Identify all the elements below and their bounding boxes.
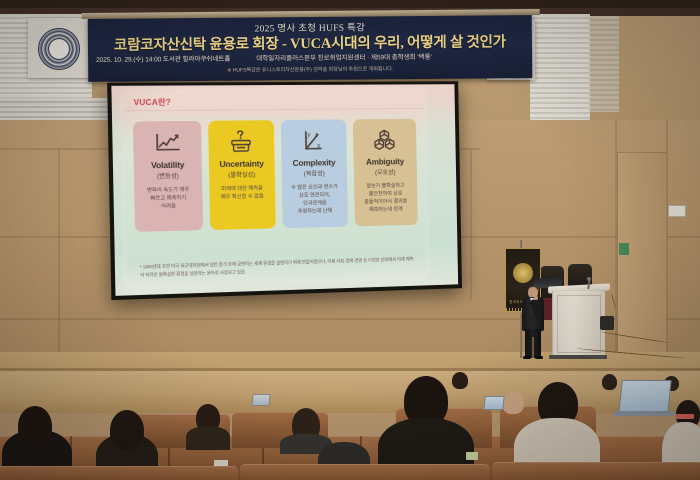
event-banner: 2025 명사 초청 HUFS 특강 코람코자산신탁 윤용로 회장 - VUCA… [88, 14, 533, 82]
svg-text:x: x [317, 142, 321, 150]
vuca-label-en: Complexity [293, 157, 336, 168]
stacked-cubes-icon [368, 127, 401, 153]
vuca-card-ambiguity: Ambiguity (모호성) 정보가 불확실하고 불안전하여 상호 충돌적이어… [352, 119, 417, 227]
speaker-shoe-right [535, 356, 543, 359]
slide-title-rule [123, 108, 423, 111]
window-blinds-right-2 [589, 16, 619, 112]
audience-head [18, 406, 52, 446]
vuca-label-ko: (불확실성) [228, 170, 255, 180]
wall-seam-v4 [470, 150, 472, 300]
pennant-emblem-icon [513, 263, 533, 283]
speaker-hand-with-mic [534, 296, 538, 300]
vuca-card-row: Volatility (변동성) 변화의 속도가 매우 빠르고 예측하기 어려움 [133, 119, 418, 232]
projection-screen: VUCA란? Volatility (변동성) [111, 84, 458, 296]
seat-row-front[interactable] [0, 466, 238, 480]
lectern-panel [557, 295, 601, 353]
exit-sign-icon [619, 243, 629, 255]
banner-sponsor-note: ※ HUFS특강은 유니스토리자산운용(주) 김덕술 회장님의 후원으로 개최됩… [88, 64, 532, 75]
line-chart-icon [149, 129, 185, 156]
wall-sign [668, 205, 686, 217]
speaker-leg-gap [532, 337, 534, 358]
vuca-desc: 수 많은 요인과 변수가 상호 연관되어, 인과관계를 추정하는데 난해 [288, 183, 341, 216]
vuca-card-complexity: y z x Complexity (복잡성) 수 많은 요인과 변수가 상호 연… [281, 119, 348, 228]
audience-item-notebook [676, 414, 694, 419]
vuca-label-en: Uncertainty [219, 158, 263, 169]
microphone-icon [587, 277, 591, 281]
left-emblem-plate [28, 18, 88, 78]
audience-head [452, 372, 468, 389]
vuca-label-ko: (복잡성) [304, 168, 325, 177]
vuca-label-en: Ambiguity [366, 156, 404, 166]
svg-text:z: z [314, 131, 317, 139]
audience-area [0, 378, 700, 480]
seat-row-front[interactable] [240, 464, 490, 480]
floor-equipment-box [600, 316, 614, 330]
vuca-label-en: Volatility [151, 160, 184, 171]
question-box-icon [224, 128, 259, 155]
vuca-card-uncertainty: Uncertainty (불확실성) 미래에 대한 예측을 매우 확신할 수 없… [208, 120, 276, 230]
wall-seam-v1 [58, 150, 60, 355]
seat-row-front[interactable] [492, 462, 700, 480]
audience-laptop-screen[interactable] [618, 380, 672, 414]
slide-footnote: * 1990년대 초반 미국 육군대학원에서 냉전 종식 후에 급변하는 세계 … [140, 255, 417, 278]
hufs-university-emblem [38, 28, 80, 70]
audience-person [186, 426, 230, 450]
vuca-desc: 미래에 대한 예측을 매우 확신할 수 없음 [217, 184, 266, 201]
lectern-base [549, 355, 607, 359]
slide-title: VUCA란? [134, 97, 172, 108]
banner-organizers: 대학일자리플러스본부 진로취업지원센터 · 제59대 총학생회 '백통' [256, 54, 431, 63]
speaker-presenter [520, 287, 546, 359]
audience-laptop-base [614, 411, 674, 416]
speaker-shoe-left [523, 356, 531, 359]
audience-item [466, 452, 478, 460]
vuca-desc: 정보가 불확실하고 불안전하여 상호 충돌적이어서 결과를 예측하는데 한계 [361, 182, 410, 215]
window-blinds-right [530, 14, 590, 134]
audience-head [110, 410, 144, 450]
audience-laptop-screen[interactable] [251, 394, 270, 406]
banner-datetime-venue: 2025. 10. 29.(수) 14:00 도서관 힐라아쿠쉬네트홀 [96, 56, 230, 64]
audience-laptop-screen[interactable] [483, 396, 504, 410]
vuca-label-ko: (모호성) [375, 167, 396, 176]
audience-head [502, 392, 524, 414]
lecture-hall-photo: 2025 명사 초청 HUFS 특강 코람코자산신탁 윤용로 회장 - VUCA… [0, 0, 700, 480]
vuca-desc: 변화의 속도가 매우 빠르고 예측하기 어려움 [144, 186, 193, 212]
side-door[interactable] [617, 152, 667, 359]
svg-text:y: y [306, 131, 311, 139]
xyz-axes-icon: y z x [297, 128, 331, 154]
presentation-slide: VUCA란? Volatility (변동성) [123, 90, 427, 288]
projection-screen-frame: VUCA란? Volatility (변동성) [107, 81, 462, 300]
vuca-label-ko: (변동성) [157, 171, 179, 181]
ceiling-shadow-band [0, 0, 700, 8]
vuca-card-volatility: Volatility (변동성) 변화의 속도가 매우 빠르고 예측하기 어려움 [133, 121, 203, 232]
audience-head [602, 374, 617, 390]
